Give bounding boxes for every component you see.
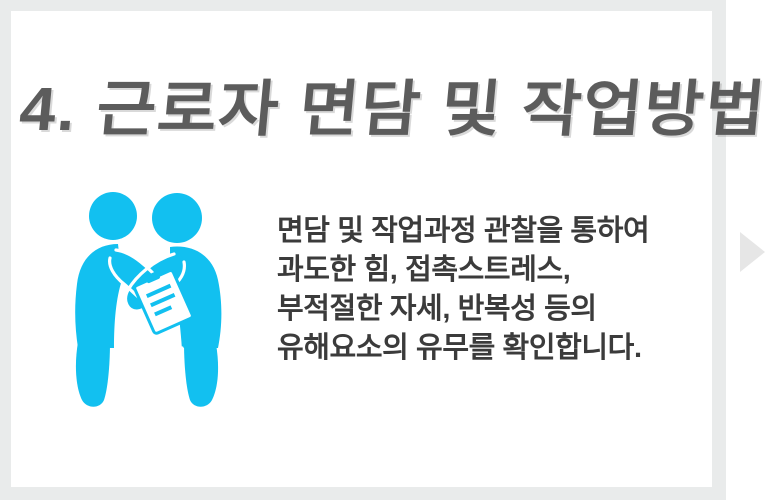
two-people-interview-clipboard-icon [66,192,246,412]
slide-stage: 4. 근로자 면담 및 작업방법 측정 [0,0,768,500]
body-line: 유해요소의 유무를 확인합니다. [277,329,697,368]
slide-title: 4. 근로자 면담 및 작업방법 측정 [16,63,756,155]
body-line: 부적절한 자세, 반복성 등의 [277,290,697,329]
body-line: 과도한 힘, 접촉스트레스, [277,251,697,290]
next-arrow-icon[interactable] [739,231,766,273]
body-line: 면담 및 작업과정 관찰을 통하여 [277,212,697,251]
slide-body-text: 면담 및 작업과정 관찰을 통하여 과도한 힘, 접촉스트레스, 부적절한 자세… [277,212,697,368]
